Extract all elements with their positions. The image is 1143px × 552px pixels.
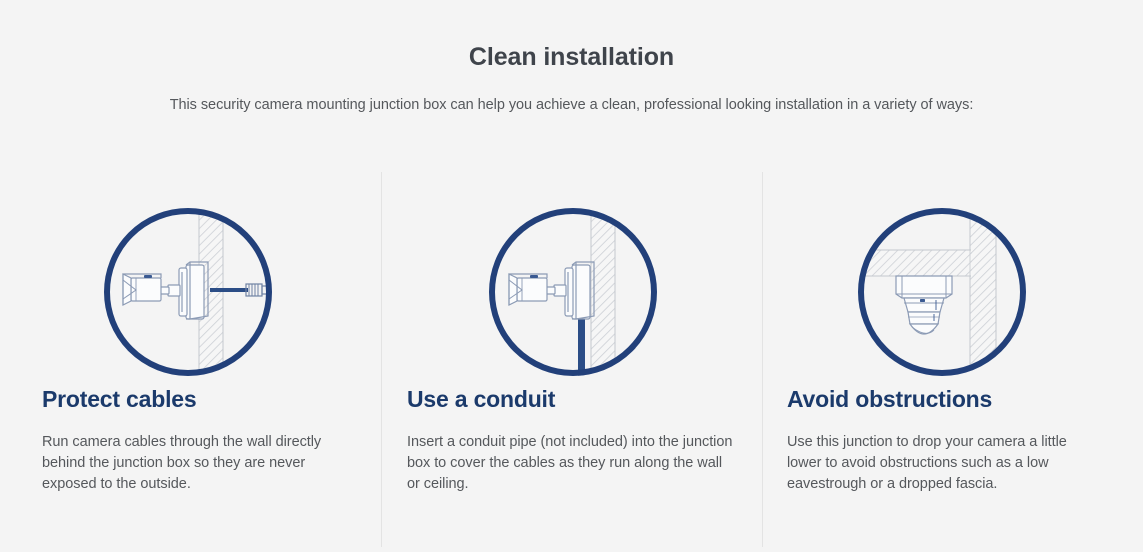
bullet-camera-with-conduit-icon	[483, 202, 663, 382]
card-body: Insert a conduit pipe (not included) int…	[407, 414, 738, 495]
card-body: Use this junction to drop your camera a …	[787, 414, 1097, 495]
illustration-use-a-conduit	[407, 172, 738, 384]
card-title: Protect cables	[42, 384, 333, 414]
page-title: Clean installation	[0, 40, 1143, 74]
feature-column-protect-cables: Protect cables Run camera cables through…	[0, 172, 381, 552]
bullet-camera-through-wall-cable-icon	[98, 202, 278, 382]
feature-columns: Protect cables Run camera cables through…	[0, 172, 1143, 552]
illustration-protect-cables	[42, 172, 333, 384]
feature-column-avoid-obstructions: Avoid obstructions Use this junction to …	[762, 172, 1143, 552]
page-subtitle: This security camera mounting junction b…	[0, 74, 1143, 115]
clean-installation-section: Clean installation This security camera …	[0, 0, 1143, 552]
card-body: Run camera cables through the wall direc…	[42, 414, 333, 495]
illustration-avoid-obstructions	[787, 172, 1097, 384]
section-header: Clean installation This security camera …	[0, 0, 1143, 115]
card-title: Use a conduit	[407, 384, 738, 414]
feature-column-use-a-conduit: Use a conduit Insert a conduit pipe (not…	[381, 172, 762, 552]
card-title: Avoid obstructions	[787, 384, 1097, 414]
dome-camera-under-soffit-icon	[852, 202, 1032, 382]
